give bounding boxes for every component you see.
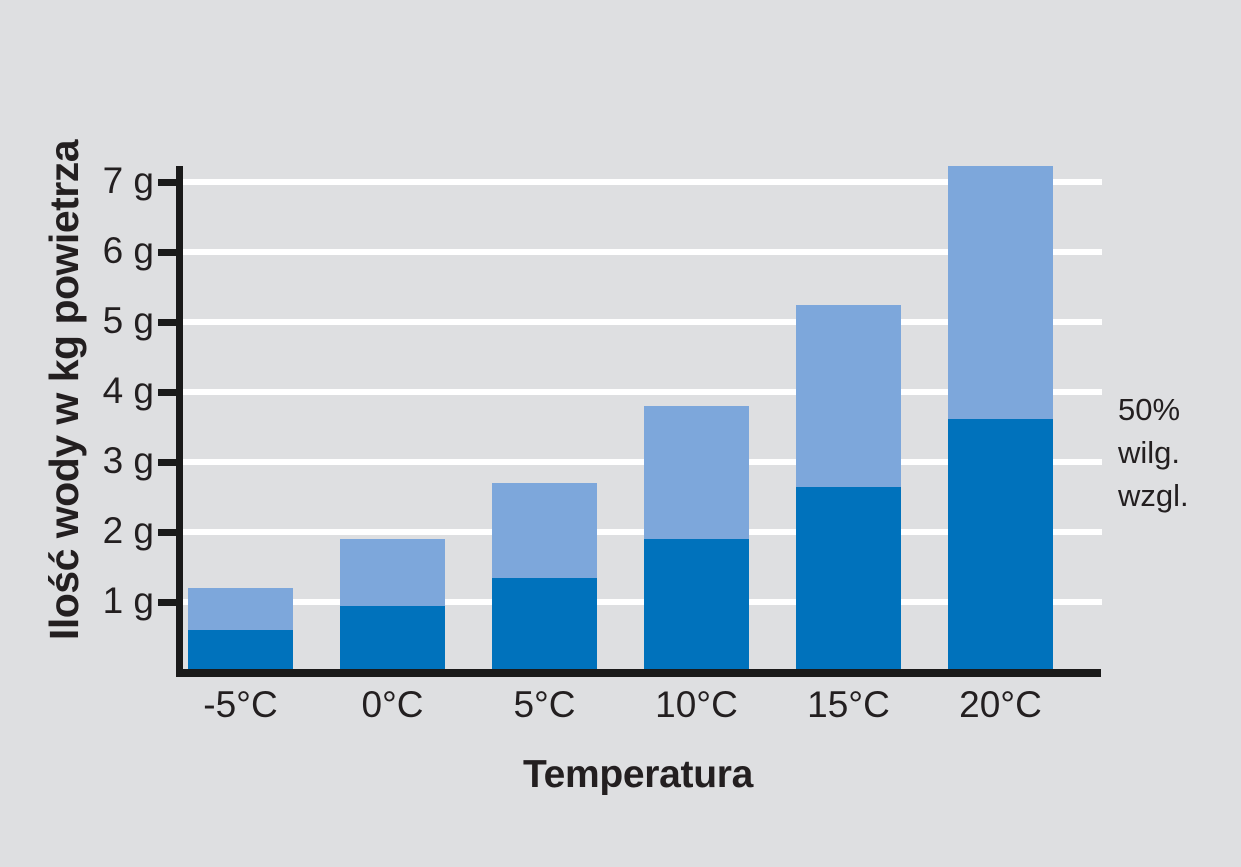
bar-group[interactable] <box>796 305 901 673</box>
x-axis-tick-label: 0°C <box>340 683 445 727</box>
x-axis-title: Temperatura <box>188 753 1088 797</box>
bar-segment-50-percent[interactable] <box>644 539 749 672</box>
bar-segment-50-percent[interactable] <box>188 630 293 672</box>
x-axis-tick-label: 15°C <box>796 683 901 727</box>
plot-area <box>182 168 1102 672</box>
x-axis-tick-label: 5°C <box>492 683 597 727</box>
y-axis-tick-label: 6 g <box>34 232 154 269</box>
y-axis-tick-label: 2 g <box>34 512 154 549</box>
humidity-annotation-line-1: 50% <box>1118 388 1238 431</box>
bar-segment-50-percent[interactable] <box>340 606 445 673</box>
bar-segment-50-percent[interactable] <box>492 578 597 673</box>
y-axis-tick-label: 5 g <box>34 302 154 339</box>
x-axis-line <box>176 669 1101 677</box>
bar-segment-saturation[interactable] <box>644 406 749 539</box>
bar-segment-saturation[interactable] <box>948 166 1053 419</box>
bar-segment-50-percent[interactable] <box>948 419 1053 672</box>
x-axis-tick-label: 10°C <box>644 683 749 727</box>
y-axis-tick-label: 1 g <box>34 582 154 619</box>
bar-group[interactable] <box>948 166 1053 672</box>
bar-group[interactable] <box>644 406 749 672</box>
humidity-annotation-line-3: wzgl. <box>1118 474 1238 517</box>
bar-segment-saturation[interactable] <box>796 305 901 487</box>
x-axis-tick-label: -5°C <box>188 683 293 727</box>
y-axis-tick-label: 3 g <box>34 442 154 479</box>
y-axis-line <box>176 166 183 676</box>
y-axis-tick-label: 7 g <box>34 162 154 199</box>
bar-group[interactable] <box>188 588 293 672</box>
y-axis-tick-label: 4 g <box>34 372 154 409</box>
humidity-annotation-line-2: wilg. <box>1118 431 1238 474</box>
bar-group[interactable] <box>492 483 597 672</box>
bar-segment-saturation[interactable] <box>188 588 293 630</box>
chart-root: Ilość wody w kg powietrza 7 g6 g5 g4 g3 … <box>0 0 1241 867</box>
bar-segment-saturation[interactable] <box>340 539 445 606</box>
y-axis-tick-labels: 7 g6 g5 g4 g3 g2 g1 g <box>20 0 154 867</box>
bar-segment-saturation[interactable] <box>492 483 597 578</box>
bar-segment-50-percent[interactable] <box>796 487 901 673</box>
bar-group[interactable] <box>340 539 445 672</box>
humidity-annotation: 50% wilg. wzgl. <box>1118 388 1238 517</box>
x-axis-tick-label: 20°C <box>948 683 1053 727</box>
